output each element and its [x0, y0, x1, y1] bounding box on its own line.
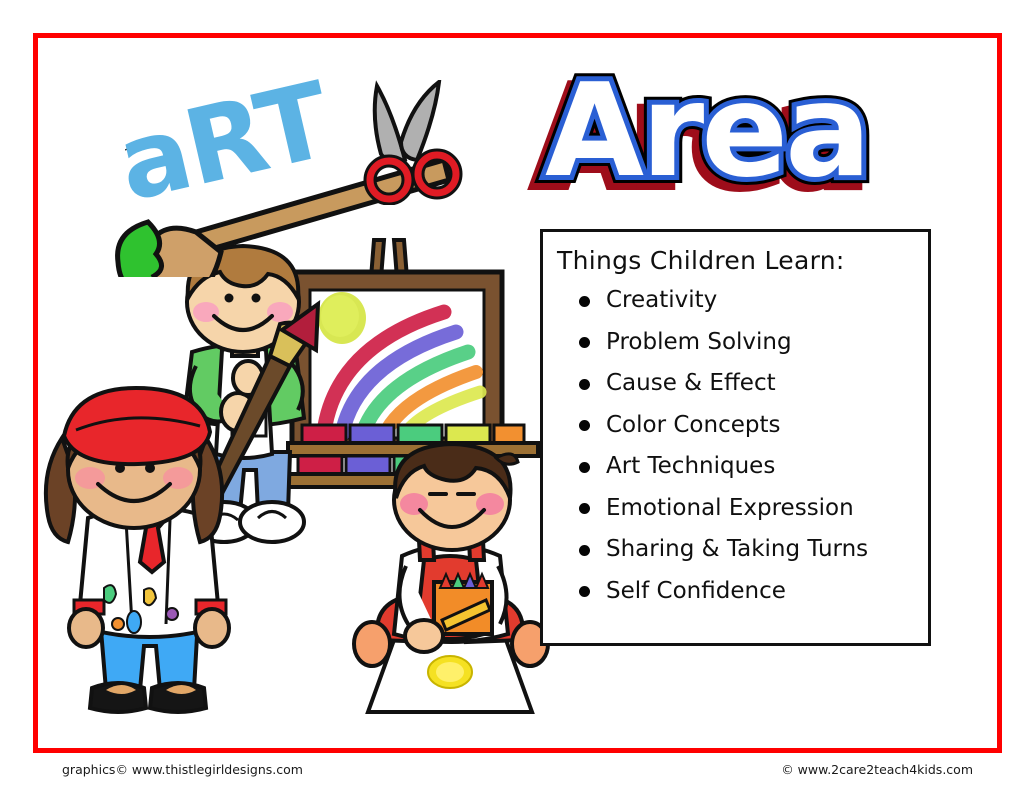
list-item: Color Concepts	[579, 405, 928, 447]
footer-credit-right: © www.2care2teach4kids.com	[781, 762, 973, 777]
page-title: Area Area Area Area	[545, 52, 945, 217]
bullet-icon	[579, 420, 590, 431]
bullet-icon	[579, 337, 590, 348]
list-item: Cause & Effect	[579, 363, 928, 405]
list-item-label: Self Confidence	[606, 578, 786, 604]
learn-box-heading: Things Children Learn:	[557, 246, 928, 275]
list-item: Sharing & Taking Turns	[579, 529, 928, 571]
art-logo: aRT aRT aRT	[108, 62, 478, 277]
bullet-icon	[579, 545, 590, 556]
list-item-label: Problem Solving	[606, 329, 792, 355]
bullet-icon	[579, 296, 590, 307]
bullet-icon	[579, 586, 590, 597]
list-item: Art Techniques	[579, 446, 928, 488]
bullet-icon	[579, 503, 590, 514]
list-item: Emotional Expression	[579, 488, 928, 530]
area-title-fill: Area	[545, 52, 868, 212]
list-item-label: Color Concepts	[606, 412, 780, 438]
list-item-label: Cause & Effect	[606, 370, 776, 396]
list-item: Self Confidence	[579, 571, 928, 613]
poster-canvas: aRT aRT aRT Area Area Area Area Things C…	[0, 0, 1035, 800]
list-item: Creativity	[579, 280, 928, 322]
scissors-icon	[363, 80, 473, 205]
learn-list: Creativity Problem Solving Cause & Effec…	[553, 280, 928, 612]
bullet-icon	[579, 379, 590, 390]
bullet-icon	[579, 462, 590, 473]
list-item-label: Creativity	[606, 287, 717, 313]
footer-credit-left: graphics© www.thistlegirldesigns.com	[62, 762, 303, 777]
list-item: Problem Solving	[579, 322, 928, 364]
list-item-label: Sharing & Taking Turns	[606, 536, 868, 562]
list-item-label: Art Techniques	[606, 453, 775, 479]
list-item-label: Emotional Expression	[606, 495, 854, 521]
things-children-learn-box: Things Children Learn: Creativity Proble…	[540, 229, 931, 646]
